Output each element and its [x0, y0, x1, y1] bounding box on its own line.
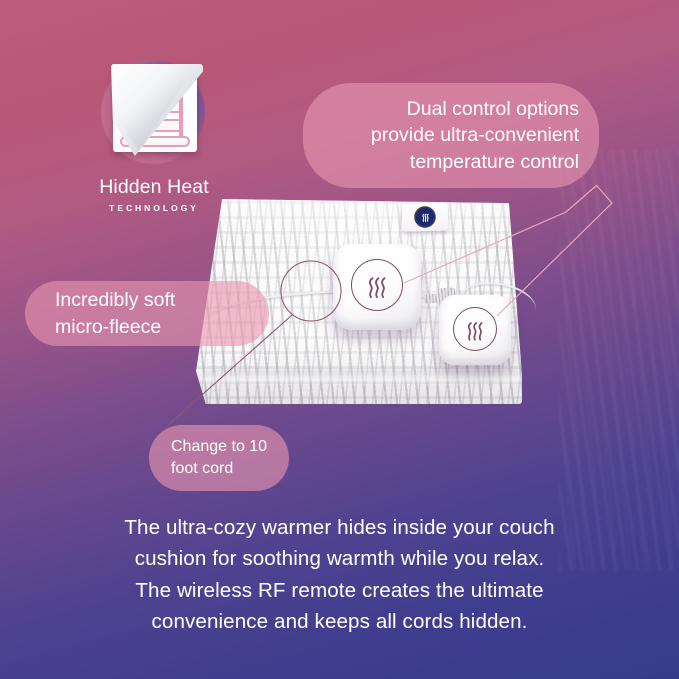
description-line: convenience and keeps all cords hidden.: [0, 606, 679, 637]
callout-line: micro-fleece: [55, 314, 269, 341]
hidden-heat-logo: Hidden Heat TECHNOLOGY: [84, 56, 224, 213]
callout-line: Incredibly soft: [55, 287, 269, 314]
description-line: The wireless RF remote creates the ultim…: [0, 575, 679, 606]
infographic-canvas: Hidden Heat TECHNOLOGY: [0, 0, 679, 679]
heat-waves-badge-icon: [414, 206, 437, 229]
hidden-heat-peeled-corner-icon: [99, 56, 209, 166]
description-line: The ultra-cozy warmer hides inside your …: [0, 512, 679, 543]
primary-controller[interactable]: [333, 244, 421, 330]
callout-dual-control: Dual control options provide ultra-conve…: [303, 83, 599, 188]
secondary-controller[interactable]: [439, 295, 511, 365]
callout-line: provide ultra-convenient: [321, 122, 579, 149]
callout-line: foot cord: [171, 458, 289, 480]
heat-waves-icon: [351, 259, 403, 311]
logo-title: Hidden Heat: [84, 176, 224, 199]
callout-cord-length: Change to 10 foot cord: [149, 425, 289, 491]
heat-waves-icon: [453, 307, 497, 351]
callout-line: Dual control options: [321, 96, 579, 123]
product-description: The ultra-cozy warmer hides inside your …: [0, 512, 679, 637]
blanket-fold-line: [203, 370, 522, 382]
callout-line: temperature control: [321, 149, 579, 176]
callout-line: Change to 10: [171, 436, 289, 458]
description-line: cushion for soothing warmth while you re…: [0, 543, 679, 574]
callout-micro-fleece: Incredibly soft micro-fleece: [25, 281, 269, 346]
product-tag: [402, 202, 449, 231]
background-fleece-ghost-texture: [559, 150, 679, 570]
